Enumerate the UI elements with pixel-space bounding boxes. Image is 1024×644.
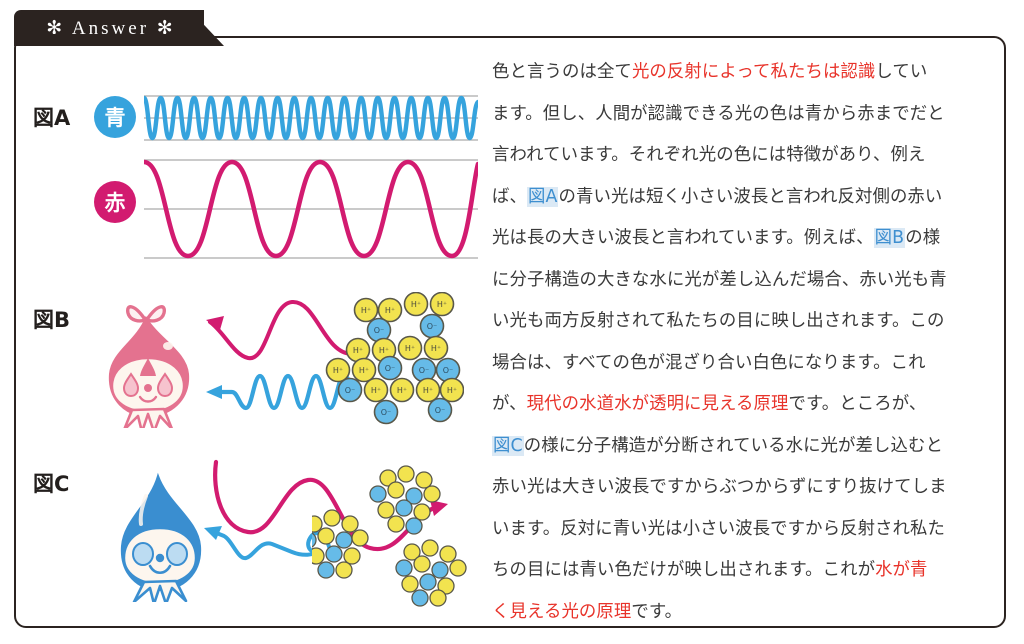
article-text: してい <box>875 62 927 82</box>
cluster-1 <box>370 466 440 534</box>
article-line: 図Cの様に分子構造が分断されている水に光が差し込むと <box>492 426 988 468</box>
pink-drop-character <box>90 296 210 428</box>
figure-reference-link[interactable]: 図A <box>527 187 559 207</box>
article-line: ちの目には青い色だけが映し出されます。これが水が青 <box>492 550 988 592</box>
badge-blue-ao: 青 <box>94 96 136 138</box>
article-text: 色と言うのは全て <box>492 62 632 82</box>
article-line: 赤い光は大きい波長ですからぶつからずにすり抜けてしま <box>492 467 988 509</box>
article-text: 赤い光は大きい波長ですからぶつからずにすり抜けてしま <box>492 477 947 497</box>
article-text: います。反対に青い光は小さい波長ですから反射され私た <box>492 519 945 539</box>
highlight-red-text: く見える光の原理 <box>492 602 631 622</box>
badge-blue-label: 青 <box>105 102 126 132</box>
article-text: ちの目には青い色だけが映し出されます。これが <box>492 560 875 580</box>
large-water-molecule-lattice: H⁺ O⁻ <box>324 292 464 438</box>
figure-a-label: 図A <box>33 102 70 132</box>
article-line: 色と言うのは全て光の反射によって私たちは認識してい <box>492 52 988 94</box>
article-line: い光も両方反射されて私たちの目に映し出されます。この <box>492 301 988 343</box>
article-text: です。 <box>631 602 682 622</box>
article-line: く見える光の原理です。 <box>492 592 988 634</box>
badge-red-label: 赤 <box>105 187 126 217</box>
article-text: い光も両方反射されて私たちの目に映し出されます。この <box>492 311 945 331</box>
article-text: の青い光は短く小さい波長と言われ反対側の赤い <box>558 187 942 207</box>
highlight-red-text: 水が青 <box>875 560 927 580</box>
article-line: います。反対に青い光は小さい波長ですから反射され私た <box>492 509 988 551</box>
figure-reference-link[interactable]: 図B <box>874 228 906 248</box>
panel-content: 図A 青 赤 <box>16 38 1004 626</box>
article-text: の様 <box>905 228 940 248</box>
article-text: ます。但し、人間が認識できる光の色は青から赤までだと <box>492 104 945 124</box>
figure-c-label: 図C <box>33 468 69 498</box>
badge-red-aka: 赤 <box>94 181 136 223</box>
figure-b: 図B <box>16 288 488 438</box>
article-line: が、現代の水道水が透明に見える原理です。ところが、 <box>492 384 988 426</box>
article-text: が、 <box>492 394 527 414</box>
cluster-3 <box>396 540 466 606</box>
red-long-wavelength-wave <box>144 156 478 262</box>
article-line: に分子構造の大きな水に光が差し込んだ場合、赤い光も青 <box>492 260 988 302</box>
article-text: 場合は、すべての色が混ざり合い白色になります。これ <box>492 353 926 373</box>
small-separated-water-clusters <box>312 460 478 610</box>
article-line: ば、図Aの青い光は短く小さい波長と言われ反対側の赤い <box>492 177 988 219</box>
figure-c: 図C <box>16 450 488 610</box>
blue-short-wavelength-wave <box>144 92 478 144</box>
article-line: 場合は、すべての色が混ざり合い白色になります。これ <box>492 343 988 385</box>
article-text: ば、 <box>492 187 527 207</box>
article-text: 光は長の大きい波長と言われています。例えば、 <box>492 228 874 248</box>
highlight-red-text: 光の反射によって私たちは認識 <box>632 62 875 82</box>
blue-arrow-head <box>206 385 222 399</box>
highlight-red-text: 現代の水道水が透明に見える原理 <box>527 394 789 414</box>
article-text: です。ところが、 <box>788 394 926 414</box>
article-column: 色と言うのは全て光の反射によって私たちは認識しています。但し、人間が認識できる光… <box>488 38 1004 626</box>
article-line: ます。但し、人間が認識できる光の色は青から赤までだと <box>492 94 988 136</box>
article-text: の様に分子構造が分断されている水に光が差し込むと <box>524 436 943 456</box>
article-line: 言われています。それぞれ光の色には特徴があり、例え <box>492 135 988 177</box>
figure-b-label: 図B <box>33 304 70 334</box>
article-line: 光は長の大きい波長と言われています。例えば、図Bの様 <box>492 218 988 260</box>
figure-a: 図A 青 赤 <box>16 82 488 267</box>
article-text: に分子構造の大きな水に光が差し込んだ場合、赤い光も青 <box>492 270 947 290</box>
answer-panel-page: ✻ Answer ✻ 図A 青 赤 <box>0 0 1024 644</box>
answer-tab-frame-joint <box>16 34 200 44</box>
figure-reference-link[interactable]: 図C <box>492 436 524 456</box>
cluster-2 <box>312 510 368 578</box>
article-text: 言われています。それぞれ光の色には特徴があり、例え <box>492 145 925 165</box>
figures-column: 図A 青 赤 <box>16 38 488 626</box>
article-body: 色と言うのは全て光の反射によって私たちは認識しています。但し、人間が認識できる光… <box>492 52 988 633</box>
